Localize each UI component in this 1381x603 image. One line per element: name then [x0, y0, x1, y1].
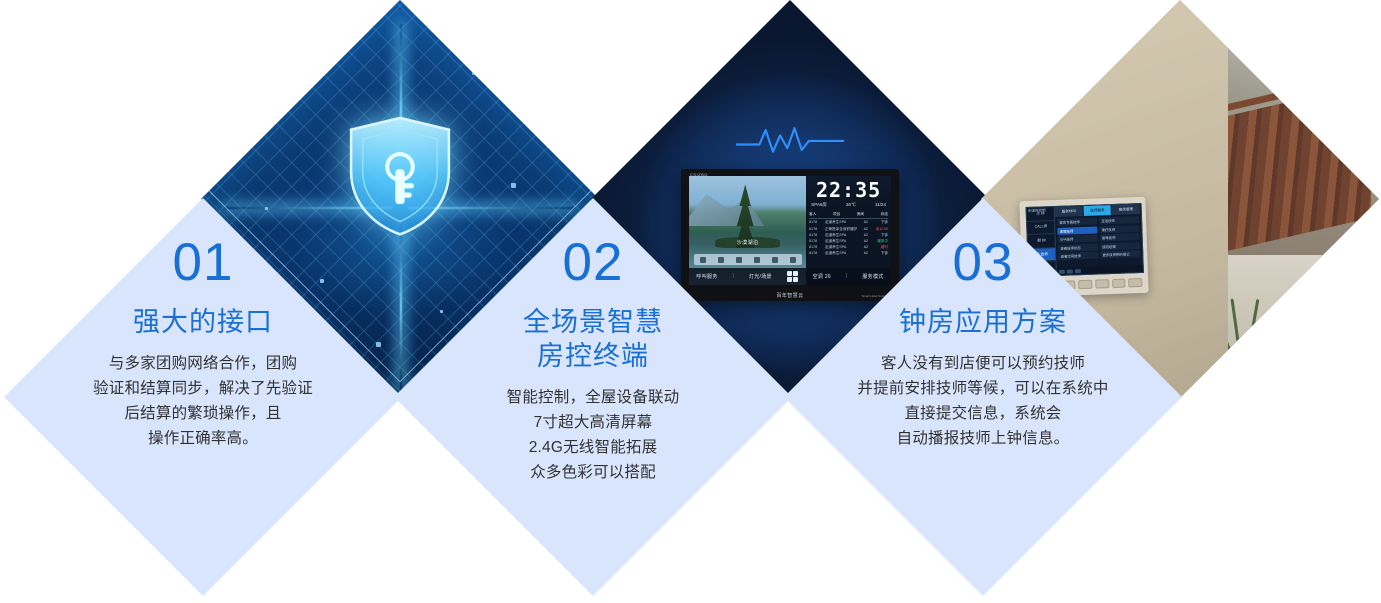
toolbar-service-mode[interactable]: 服务模式 — [862, 273, 883, 280]
cell-status: 余11:50 — [872, 227, 888, 232]
table-header-row: 客人 项目 房间 状态 — [809, 212, 888, 219]
temperature-label: 26℃ — [846, 202, 856, 208]
menu-item[interactable]: 更多技师预约登记 — [1100, 250, 1140, 258]
menu-item[interactable]: 查看技师状态 — [1058, 243, 1098, 251]
scene-mountain — [689, 189, 764, 226]
circuit-speck — [265, 207, 268, 210]
side-button-callshi[interactable]: CALL师 — [1027, 221, 1055, 236]
scene-control-icon[interactable] — [790, 257, 796, 263]
clock-time: 22:35 — [811, 180, 886, 200]
circuit-speck — [320, 279, 324, 283]
date-label: 11/24 — [875, 202, 886, 208]
room-label: SPA6房 — [811, 202, 827, 208]
table-row: 8178 足道养生SPA A2 下钟 — [809, 232, 888, 238]
cell-guest: 8178 — [809, 233, 825, 238]
menu-column-left: 客房专属技师 客服技师 SPA技师 查看技师状态 查看空闲技师 — [1057, 218, 1098, 266]
wall-panel-menu-columns: 客房专属技师 客服技师 SPA技师 查看技师状态 查看空闲技师 足浴技师 理疗技… — [1055, 214, 1142, 268]
cell-room: A2 — [860, 233, 873, 238]
table-row: 8178 足道养生SPA A2 下钟 — [809, 251, 888, 257]
toolbar-divider: | — [732, 273, 734, 279]
status-chip — [1067, 269, 1073, 273]
terminal-screen: 沙漠湖泊 22:35 — [689, 176, 891, 285]
apps-grid-icon[interactable] — [787, 271, 798, 282]
table-row: 8178 正骨推拿全身舒缓护 A2 余11:50 — [809, 226, 888, 232]
cell-status: 超时 — [872, 245, 888, 250]
cell-room: A2 — [860, 239, 873, 244]
feature-body-02: 智能控制，全屋设备联动 7寸超大高清屏幕 2.4G无线智能拓展 众多色彩可以搭配 — [428, 385, 758, 485]
menu-item[interactable]: 查看空闲技师 — [1058, 252, 1098, 260]
scene-control-icon[interactable] — [736, 257, 742, 263]
status-chip — [1059, 269, 1065, 273]
cell-status: 下钟 — [872, 251, 888, 256]
cell-item: 足道养生SPA — [825, 245, 860, 250]
scene-control-icon[interactable] — [754, 257, 760, 263]
wall-panel-main-area: 服务呼叫 技师服务 客房管理 客房专属技师 客服技师 SPA技师 查看技师状态 … — [1055, 204, 1143, 275]
menu-column-right: 足浴技师 理疗技师 督导技师 值班经理 更多技师预约登记 — [1099, 216, 1140, 264]
cell-guest: 8178 — [809, 239, 825, 244]
status-chip — [1075, 269, 1081, 273]
menu-item[interactable]: 督导技师 — [1100, 233, 1140, 241]
cell-item: 足道养生SPA — [825, 233, 860, 238]
circuit-speck — [289, 96, 293, 100]
col-header-room: 房间 — [857, 212, 864, 217]
col-header-item: 项目 — [833, 212, 840, 217]
cell-item: 正骨推拿全身舒缓护 — [825, 227, 860, 232]
menu-item[interactable]: 理疗技师 — [1099, 225, 1139, 233]
toolbar-call-service[interactable]: 呼叫服务 — [696, 273, 717, 280]
table-row: 8178 足道养生SPA A2 服务中 — [809, 238, 888, 244]
cell-guest: 8178 — [809, 220, 825, 225]
hard-key[interactable] — [1112, 279, 1126, 288]
cell-item: 足道养生SPA — [825, 239, 860, 244]
scene-control-strip[interactable] — [694, 254, 802, 265]
circuit-speck — [376, 342, 381, 347]
cell-guest: 8178 — [809, 227, 825, 232]
toolbar-divider: | — [846, 273, 848, 279]
scene-label: 沙漠湖泊 — [689, 239, 806, 246]
feature-body-01: 与多家团购网络合作，团购 验证和结算同步，解决了先验证 后结算的繁琐操作，且 操… — [38, 351, 368, 451]
terminal-bezel: CSIZBO 沙漠湖泊 — [681, 169, 899, 301]
toolbar-lighting-scene[interactable]: 灯光/场景 — [749, 273, 772, 280]
cell-room: A2 — [860, 220, 873, 225]
cell-status: 下钟 — [872, 233, 888, 238]
circuit-speck — [511, 183, 516, 188]
hard-key[interactable] — [1128, 278, 1142, 287]
terminal-bottom-toolbar[interactable]: 呼叫服务 | 灯光/场景 空调 26 | 服务模式 — [689, 268, 891, 285]
col-header-status: 状态 — [881, 212, 888, 217]
cell-room: A2 — [860, 251, 873, 256]
cell-item: 足道养生SPA — [825, 251, 860, 256]
wall-panel-title: 多媒体控制 — [1027, 208, 1045, 214]
menu-item-selected[interactable]: 客服技师 — [1057, 226, 1097, 234]
heartbeat-pulse-icon — [736, 123, 844, 157]
menu-item[interactable]: 客房专属技师 — [1057, 218, 1097, 226]
feature-title-02: 全场景智慧 房控终端 — [428, 305, 758, 373]
cell-guest: 8178 — [809, 245, 825, 250]
scene-control-icon[interactable] — [718, 257, 724, 263]
terminal-clock-widget: 22:35 SPA6房 26℃ 11/24 — [806, 176, 891, 210]
menu-item[interactable]: 足浴技师 — [1099, 216, 1139, 224]
menu-item[interactable]: 值班经理 — [1100, 242, 1140, 250]
toolbar-air-conditioner[interactable]: 空调 26 — [813, 273, 831, 280]
feature-diamond-layout: CSIZBO 沙漠湖泊 — [0, 0, 1381, 603]
scene-control-icon[interactable] — [700, 257, 706, 263]
feature-body-03: 客人没有到店便可以预约技师 并提前安排技师等候，可以在系统中 直接提交信息，系统… — [818, 351, 1148, 451]
col-header-guest: 客人 — [809, 212, 816, 217]
cell-status: 服务中 — [872, 239, 888, 244]
cell-status: 下钟 — [872, 220, 888, 225]
hard-key[interactable] — [1095, 279, 1109, 288]
shield-lock-icon — [341, 111, 459, 239]
cell-room: A2 — [860, 245, 873, 250]
table-row: 8178 足道养生SPA A2 超时 — [809, 245, 888, 251]
menu-item[interactable]: SPA技师 — [1058, 235, 1098, 243]
circuit-speck — [472, 72, 475, 75]
cell-item: 足道养生SPA — [825, 220, 860, 225]
cell-room: A2 — [860, 227, 873, 232]
clock-meta: SPA6房 26℃ 11/24 — [811, 202, 886, 208]
light-beam-bottom — [400, 223, 402, 390]
cell-guest: 8178 — [809, 251, 825, 256]
scene-control-icon[interactable] — [772, 257, 778, 263]
table-row: 8178 足道养生SPA A2 下钟 — [809, 220, 888, 226]
hard-key[interactable] — [1078, 280, 1092, 289]
